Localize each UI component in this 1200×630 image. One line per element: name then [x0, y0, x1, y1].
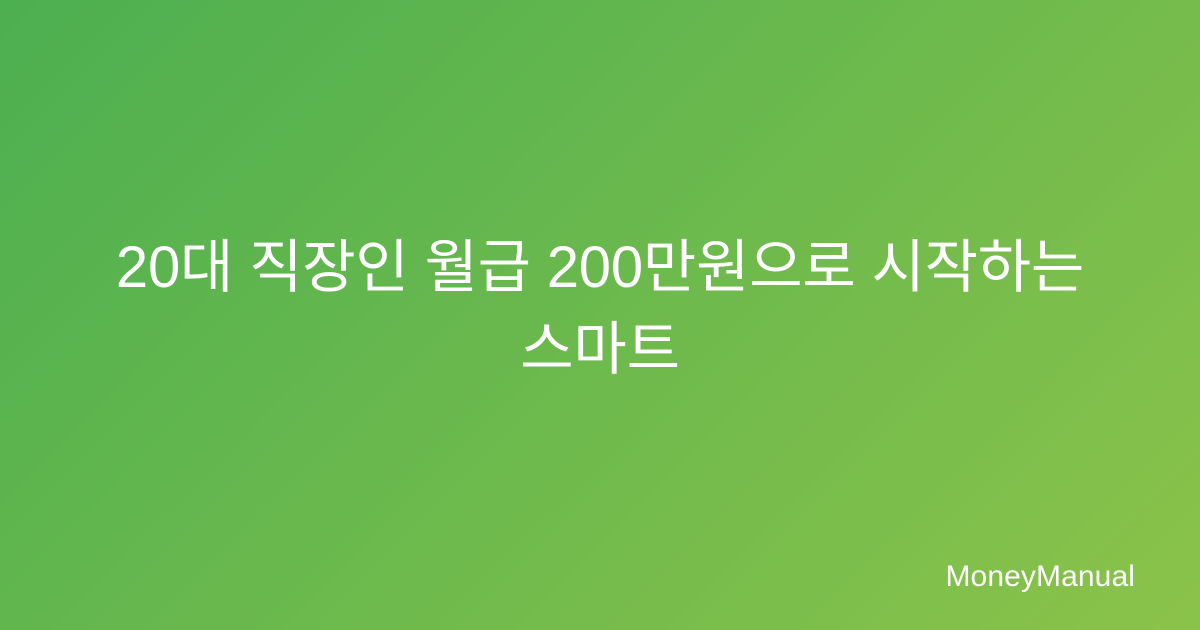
title-container: 20대 직장인 월급 200만원으로 시작하는 스마트 — [0, 0, 1200, 630]
og-card: 20대 직장인 월급 200만원으로 시작하는 스마트 MoneyManual — [0, 0, 1200, 630]
brand-wordmark: MoneyManual — [945, 562, 1135, 592]
page-title: 20대 직장인 월급 200만원으로 시작하는 스마트 — [90, 227, 1110, 391]
